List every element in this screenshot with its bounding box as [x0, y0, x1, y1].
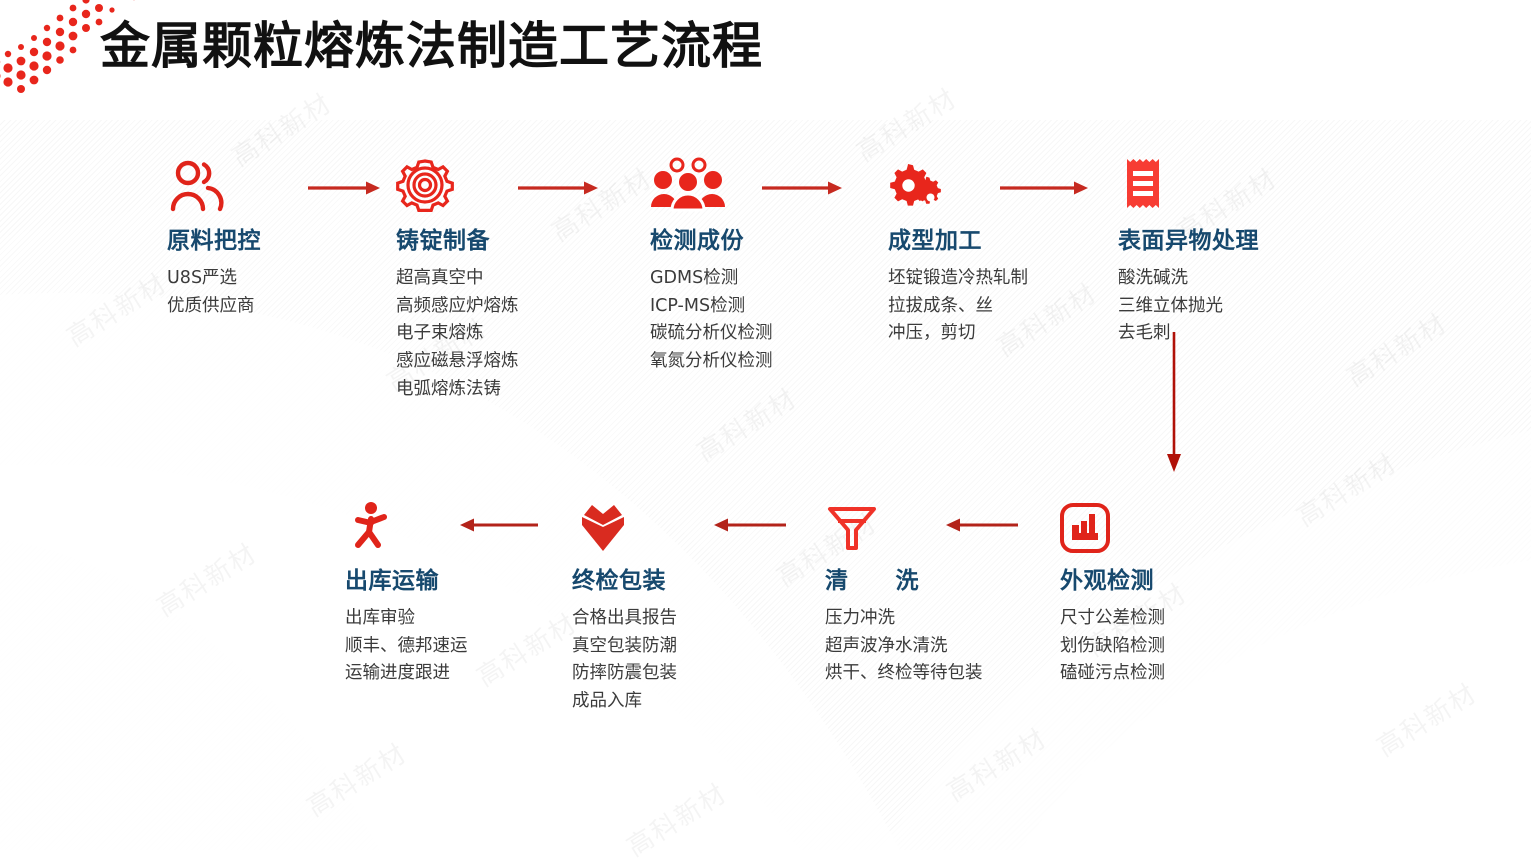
step-items: 超高真空中高频感应炉熔炼电子束熔炼感应磁悬浮熔炼电弧熔炼法铸	[396, 265, 611, 403]
step-6-appearance-inspection[interactable]: 外观检测 尺寸公差检测划伤缺陷检测磕碰污点检测	[1060, 495, 1275, 688]
step-item: 划伤缺陷检测	[1060, 633, 1275, 661]
page-title: 金属颗粒熔炼法制造工艺流程	[100, 6, 763, 78]
step-item: 冲压，剪切	[888, 320, 1103, 348]
step-1-raw-material-control[interactable]: 原料把控 U8S严选优质供应商	[167, 155, 382, 320]
step-items: U8S严选优质供应商	[167, 265, 382, 320]
step-7-cleaning[interactable]: 清 洗 压力冲洗超声波净水清洗烘干、终检等待包装	[825, 495, 995, 688]
step-items: 酸洗碱洗三维立体抛光去毛刺	[1118, 265, 1333, 348]
step-title: 终检包装	[572, 561, 762, 595]
gear-icon	[396, 155, 611, 213]
step-items: 合格出具报告真空包装防潮防摔防震包装成品入库	[572, 605, 762, 716]
step-items: 坯锭锻造冷热轧制拉拔成条、丝冲压，剪切	[888, 265, 1103, 348]
step-item: 磕碰污点检测	[1060, 660, 1275, 688]
factory-badge-icon	[1060, 495, 1275, 553]
step-items: 出库审验顺丰、德邦速运运输进度跟进	[345, 605, 535, 688]
two-gears-icon	[888, 155, 1103, 213]
step-item: GDMS检测	[650, 265, 865, 293]
step-item: 合格出具报告	[572, 605, 762, 633]
step-item: 超高真空中	[396, 265, 611, 293]
step-item: 尺寸公差检测	[1060, 605, 1275, 633]
process-flow-diagram: 原料把控 U8S严选优质供应商 铸锭制备 超高真空中高频感应炉熔炼电子束熔炼感应…	[0, 0, 1531, 850]
step-items: 压力冲洗超声波净水清洗烘干、终检等待包装	[825, 605, 995, 688]
step-item: 优质供应商	[167, 293, 382, 321]
step-title: 原料把控	[167, 221, 382, 255]
arrow-5-6	[1166, 332, 1182, 472]
step-item: 氧氮分析仪检测	[650, 348, 865, 376]
step-title: 出库运输	[345, 561, 535, 595]
step-item: 防摔防震包装	[572, 660, 762, 688]
step-9-outbound-transport[interactable]: 出库运输 出库审验顺丰、德邦速运运输进度跟进	[345, 495, 535, 688]
step-title: 检测成份	[650, 221, 865, 255]
step-item: 三维立体抛光	[1118, 293, 1333, 321]
step-item: 出库审验	[345, 605, 535, 633]
people-group-icon	[650, 155, 865, 213]
two-people-icon	[167, 155, 382, 213]
open-box-icon	[572, 495, 762, 553]
page-header: 金属颗粒熔炼法制造工艺流程	[0, 0, 1531, 95]
step-item: 酸洗碱洗	[1118, 265, 1333, 293]
step-item: 真空包装防潮	[572, 633, 762, 661]
step-item: 烘干、终检等待包装	[825, 660, 995, 688]
step-item: 电弧熔炼法铸	[396, 376, 611, 404]
step-title: 成型加工	[888, 221, 1103, 255]
step-item: 坯锭锻造冷热轧制	[888, 265, 1103, 293]
funnel-icon	[825, 495, 995, 553]
step-item: U8S严选	[167, 265, 382, 293]
step-item: 电子束熔炼	[396, 320, 611, 348]
step-item: 碳硫分析仪检测	[650, 320, 865, 348]
step-items: 尺寸公差检测划伤缺陷检测磕碰污点检测	[1060, 605, 1275, 688]
walking-person-icon	[345, 495, 535, 553]
step-item: 高频感应炉熔炼	[396, 293, 611, 321]
step-item: ICP-MS检测	[650, 293, 865, 321]
step-5-surface-treatment[interactable]: 表面异物处理 酸洗碱洗三维立体抛光去毛刺	[1118, 155, 1333, 348]
step-2-ingot-preparation[interactable]: 铸锭制备 超高真空中高频感应炉熔炼电子束熔炼感应磁悬浮熔炼电弧熔炼法铸	[396, 155, 611, 403]
step-8-final-inspection-packaging[interactable]: 终检包装 合格出具报告真空包装防潮防摔防震包装成品入库	[572, 495, 762, 716]
step-item: 超声波净水清洗	[825, 633, 995, 661]
receipt-icon	[1118, 155, 1333, 213]
step-item: 感应磁悬浮熔炼	[396, 348, 611, 376]
step-title: 铸锭制备	[396, 221, 611, 255]
step-4-forming-processing[interactable]: 成型加工 坯锭锻造冷热轧制拉拔成条、丝冲压，剪切	[888, 155, 1103, 348]
step-title: 清 洗	[825, 561, 995, 595]
step-title: 外观检测	[1060, 561, 1275, 595]
step-item: 顺丰、德邦速运	[345, 633, 535, 661]
step-item: 运输进度跟进	[345, 660, 535, 688]
step-items: GDMS检测ICP-MS检测碳硫分析仪检测氧氮分析仪检测	[650, 265, 865, 376]
step-item: 去毛刺	[1118, 320, 1333, 348]
step-item: 拉拔成条、丝	[888, 293, 1103, 321]
step-item: 压力冲洗	[825, 605, 995, 633]
step-item: 成品入库	[572, 688, 762, 716]
step-title: 表面异物处理	[1118, 221, 1333, 255]
step-3-composition-testing[interactable]: 检测成份 GDMS检测ICP-MS检测碳硫分析仪检测氧氮分析仪检测	[650, 155, 865, 376]
